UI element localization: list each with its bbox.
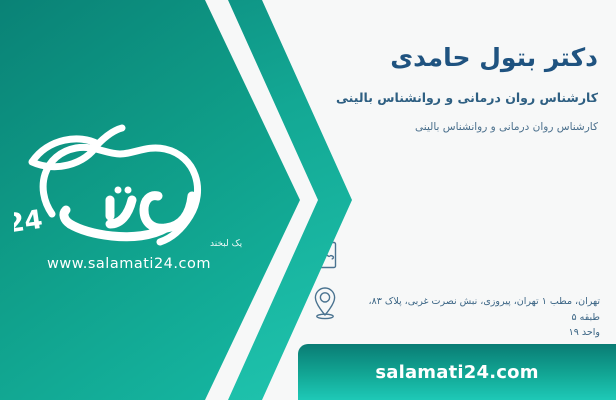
logo-script [64, 196, 192, 237]
logo-24-badge: 24 [14, 205, 44, 240]
banner-website: salamati24.com [375, 362, 538, 383]
logo-script-dots [115, 187, 132, 194]
svg-text:24: 24 [14, 205, 44, 240]
logo-website: www.salamati24.com [47, 256, 211, 272]
bottom-banner: salamati24.com [298, 344, 616, 400]
business-card: 24 برای یک لبخند www.salamati24.com دک [0, 0, 616, 400]
logo-artwork: 24 برای یک لبخند www.salamati24.com [14, 104, 244, 276]
specialty-secondary: کارشناس روان درمانی و روانشناس بالینی [308, 120, 598, 136]
specialty-primary: کارشناس روان درمانی و روانشناس بالینی [308, 89, 598, 108]
salamati24-logo: 24 برای یک لبخند www.salamati24.com [14, 104, 244, 276]
doctor-name: دکتر بتول حامدی [308, 42, 598, 73]
card-content: دکتر بتول حامدی کارشناس روان درمانی و رو… [300, 0, 616, 344]
logo-tagline: برای یک لبخند [210, 239, 244, 249]
